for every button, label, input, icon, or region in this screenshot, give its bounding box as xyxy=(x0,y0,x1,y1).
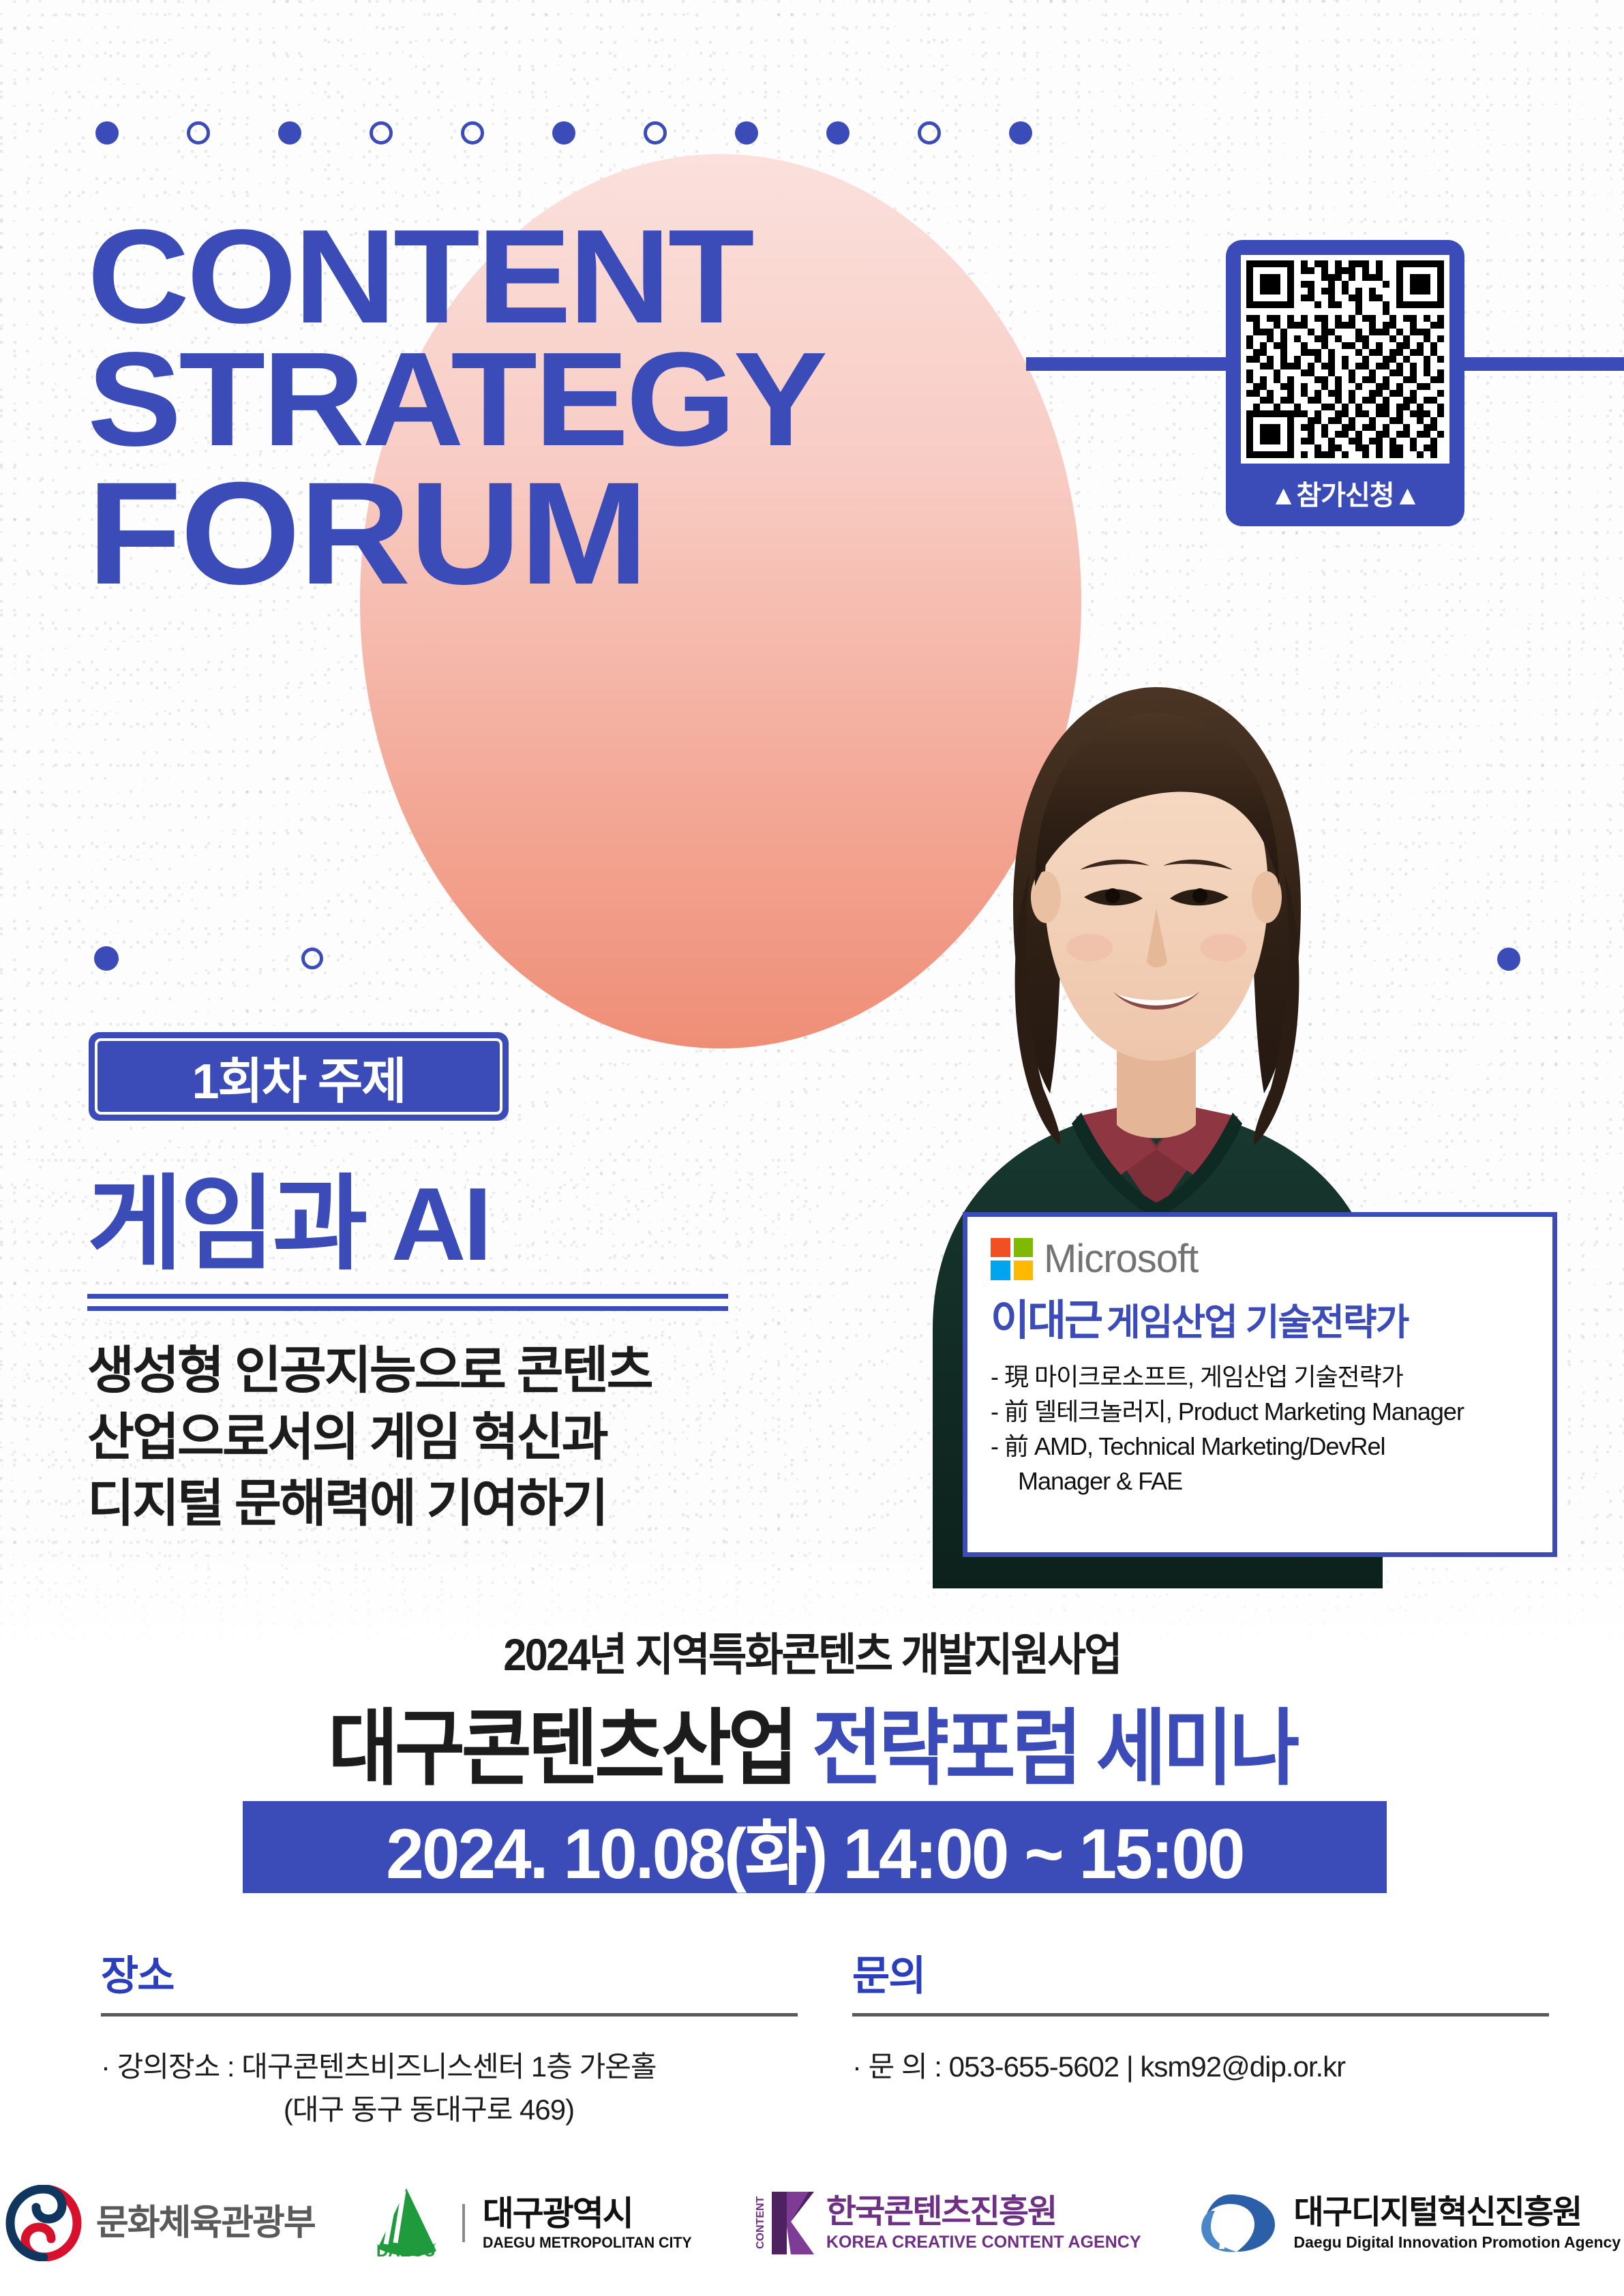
dot-hollow xyxy=(187,121,210,145)
ministry-logo-text: 문화체육관광부 xyxy=(96,2205,315,2241)
logo-separator-bar xyxy=(462,2204,465,2242)
speaker-info-card: Microsoft 이대근게임산업 기술전략가 - 現 마이크로소프트, 게임산… xyxy=(963,1212,1557,1557)
dip-name-kr: 대구디지털혁신진흥원 xyxy=(1294,2196,1621,2229)
dot-filled xyxy=(826,121,849,145)
dip-logo-icon xyxy=(1192,2188,1282,2259)
subtitle-line-2: 산업으로서의 게임 혁신과 xyxy=(87,1404,652,1471)
logo-daegu-city: DAEGU 대구광역시 DAEGU METROPOLITAN CITY xyxy=(365,2186,698,2261)
contact-line-1: · 문 의 : 053-655-5602 | ksm92@dip.or.kr xyxy=(852,2045,1549,2088)
speaker-name: 이대근 xyxy=(991,1297,1101,1344)
career-item: - 前 AMD, Technical Marketing/DevRel xyxy=(991,1429,1529,1464)
daegu-name-kr: 대구광역시 xyxy=(483,2196,698,2231)
kocca-logo-text: 한국콘텐츠진흥원 KOREA CREATIVE CONTENT AGENCY xyxy=(826,2196,1141,2251)
kocca-name-kr: 한국콘텐츠진흥원 xyxy=(826,2196,1141,2229)
event-main-title: 대구콘텐츠산업 전략포럼 세미나 xyxy=(65,1681,1559,1802)
session-badge-label: 1회차 주제 xyxy=(192,1041,405,1113)
decorative-dot-left-upper-hollow xyxy=(301,948,323,969)
event-program-name: 2024년 지역특화콘텐츠 개발지원사업 xyxy=(57,1618,1567,1684)
event-title-dark: 대구콘텐츠산업 xyxy=(328,1702,794,1795)
venue-divider xyxy=(101,2013,798,2016)
microsoft-logo-icon xyxy=(991,1238,1033,1280)
decorative-dot-left-upper xyxy=(94,946,119,971)
contact-heading: 문의 xyxy=(852,1943,1549,2002)
dot-hollow xyxy=(461,121,484,145)
session-topic-title: 게임과 AI xyxy=(87,1140,490,1290)
decorative-dot-right-mid xyxy=(1497,948,1520,971)
dip-name-en: Daegu Digital Innovation Promotion Agenc… xyxy=(1294,2235,1621,2250)
dot-hollow xyxy=(644,121,667,145)
event-date-time: 2024. 10.08(화) 14:00 ~ 15:00 xyxy=(386,1796,1243,1899)
subtitle-line-3: 디지털 문해력에 기여하기 xyxy=(87,1470,652,1537)
contact-info-block: 문의 · 문 의 : 053-655-5602 | ksm92@dip.or.k… xyxy=(852,1943,1549,2088)
kocca-logo-icon: CONTENT xyxy=(749,2188,814,2259)
qr-registration-box[interactable]: ▲참가신청▲ xyxy=(1226,240,1464,526)
dot-hollow xyxy=(918,121,941,145)
daegu-logo-icon: DAEGU xyxy=(365,2186,445,2261)
event-date-banner: 2024. 10.08(화) 14:00 ~ 15:00 xyxy=(243,1801,1387,1893)
daegu-logo-text: 대구광역시 DAEGU METROPOLITAN CITY xyxy=(483,2196,698,2250)
session-subtitle: 생성형 인공지능으로 콘텐츠 산업으로서의 게임 혁신과 디지털 문해력에 기여… xyxy=(87,1338,652,1537)
dot-filled xyxy=(1009,121,1032,145)
session-number-badge: 1회차 주제 xyxy=(89,1032,509,1121)
kocca-name-en: KOREA CREATIVE CONTENT AGENCY xyxy=(826,2234,1141,2251)
divider-line-top xyxy=(87,1294,728,1299)
speaker-title-row: 이대근게임산업 기술전략가 xyxy=(991,1286,1529,1347)
divider-line-bottom xyxy=(87,1306,728,1311)
dot-filled xyxy=(735,121,758,145)
event-title-blue: 전략포럼 세미나 xyxy=(812,1702,1296,1795)
dot-filled xyxy=(94,946,119,971)
logo-kocca: CONTENT 한국콘텐츠진흥원 KOREA CREATIVE CONTENT … xyxy=(749,2188,1141,2259)
headline-line-strategy: STRATEGY xyxy=(87,338,825,461)
subtitle-line-1: 생성형 인공지능으로 콘텐츠 xyxy=(87,1338,652,1404)
qr-caption-label: ▲참가신청▲ xyxy=(1270,473,1420,513)
kocca-mark-text: CONTENT xyxy=(755,2196,766,2249)
decorative-dot-row-top xyxy=(95,121,1032,145)
poster-headline: CONTENT STRATEGY FORUM xyxy=(87,215,783,601)
qr-code-icon[interactable] xyxy=(1241,255,1449,464)
contact-body: · 문 의 : 053-655-5602 | ksm92@dip.or.kr xyxy=(852,2045,1549,2088)
venue-info-block: 장소 · 강의장소 : 대구콘텐츠비즈니스센터 1층 가온홀 (대구 동구 동대… xyxy=(101,1943,798,2131)
venue-line-2: (대구 동구 동대구로 469) xyxy=(101,2088,798,2131)
daegu-name-en: DAEGU METROPOLITAN CITY xyxy=(483,2235,692,2250)
speaker-career-list: - 現 마이크로소프트, 게임산업 기술전략가 - 前 델테크놀러지, Prod… xyxy=(991,1359,1529,1498)
footer-logo-strip: 문화체육관광부 DAEGU 대구광역시 DAEGU METROPOLITAN C… xyxy=(0,2179,1624,2267)
venue-body: · 강의장소 : 대구콘텐츠비즈니스센터 1층 가온홀 (대구 동구 동대구로 … xyxy=(101,2045,798,2131)
career-item-continuation: Manager & FAE xyxy=(1018,1464,1529,1498)
venue-line-1: · 강의장소 : 대구콘텐츠비즈니스센터 1층 가온홀 xyxy=(101,2045,798,2088)
headline-line-content: CONTENT xyxy=(87,215,825,338)
topic-double-divider xyxy=(87,1294,728,1311)
logo-ministry-of-culture: 문화체육관광부 xyxy=(3,2185,315,2261)
microsoft-wordmark: Microsoft xyxy=(1044,1236,1198,1282)
dot-filled xyxy=(552,121,575,145)
microsoft-brand-row: Microsoft xyxy=(991,1236,1529,1282)
career-item: - 前 델테크놀러지, Product Marketing Manager xyxy=(991,1394,1529,1429)
dip-logo-text: 대구디지털혁신진흥원 Daegu Digital Innovation Prom… xyxy=(1294,2196,1621,2250)
contact-divider xyxy=(852,2013,1549,2016)
logo-dip: 대구디지털혁신진흥원 Daegu Digital Innovation Prom… xyxy=(1192,2188,1621,2259)
venue-heading: 장소 xyxy=(101,1943,798,2002)
career-item: - 現 마이크로소프트, 게임산업 기술전략가 xyxy=(991,1359,1529,1394)
dot-filled xyxy=(1497,948,1520,971)
daegu-mark-text: DAEGU xyxy=(376,2242,436,2261)
speaker-role: 게임산업 기술전략가 xyxy=(1107,1302,1408,1343)
ministry-name-kr: 문화체육관광부 xyxy=(96,2205,315,2241)
dot-hollow xyxy=(370,121,393,145)
poster-canvas: CONTENT STRATEGY FORUM xyxy=(0,0,1624,2296)
dot-hollow xyxy=(301,948,323,969)
dot-filled xyxy=(278,121,301,145)
taegeuk-logo-icon xyxy=(3,2185,84,2261)
headline-line-forum: FORUM xyxy=(87,467,825,601)
dot-filled xyxy=(95,121,119,145)
